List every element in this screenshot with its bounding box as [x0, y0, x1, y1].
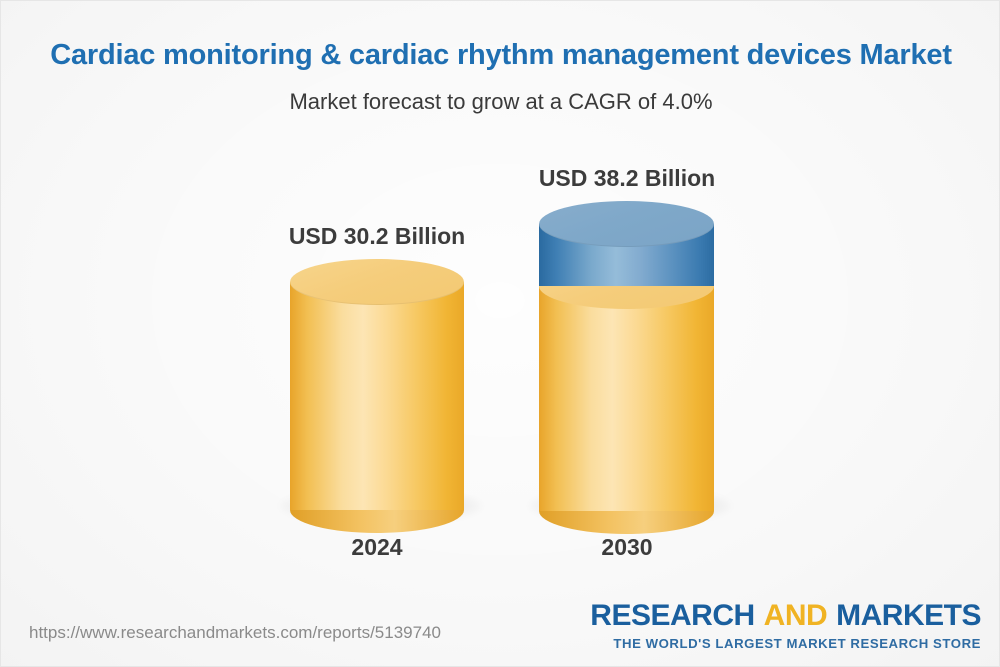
chart-subtitle: Market forecast to grow at a CAGR of 4.0…	[1, 89, 1000, 115]
bar-category-label-2030: 2030	[467, 534, 787, 561]
cylinder-top-cap-2024	[290, 259, 464, 305]
logo-word-and: AND	[764, 599, 828, 632]
cylinder-2030	[539, 201, 714, 511]
cylinder-top-cap-2030	[539, 201, 714, 247]
cylinder-gold-segment-2030	[539, 286, 714, 511]
source-url[interactable]: https://www.researchandmarkets.com/repor…	[29, 623, 441, 643]
cylinder-2024	[290, 259, 464, 511]
logo-word-markets: MARKETS	[836, 599, 981, 632]
bar-value-label-2030: USD 38.2 Billion	[467, 165, 787, 192]
cylinder-body-2024	[290, 282, 464, 510]
research-and-markets-logo[interactable]: RESEARCHANDMARKETS THE WORLD'S LARGEST M…	[590, 601, 981, 651]
chart-title: Cardiac monitoring & cardiac rhythm mana…	[1, 39, 1000, 72]
logo-word-research: RESEARCH	[590, 599, 754, 632]
chart-canvas: Cardiac monitoring & cardiac rhythm mana…	[0, 0, 1000, 667]
logo-tagline: THE WORLD'S LARGEST MARKET RESEARCH STOR…	[590, 636, 981, 651]
logo-wordmark: RESEARCHANDMARKETS	[590, 601, 981, 631]
